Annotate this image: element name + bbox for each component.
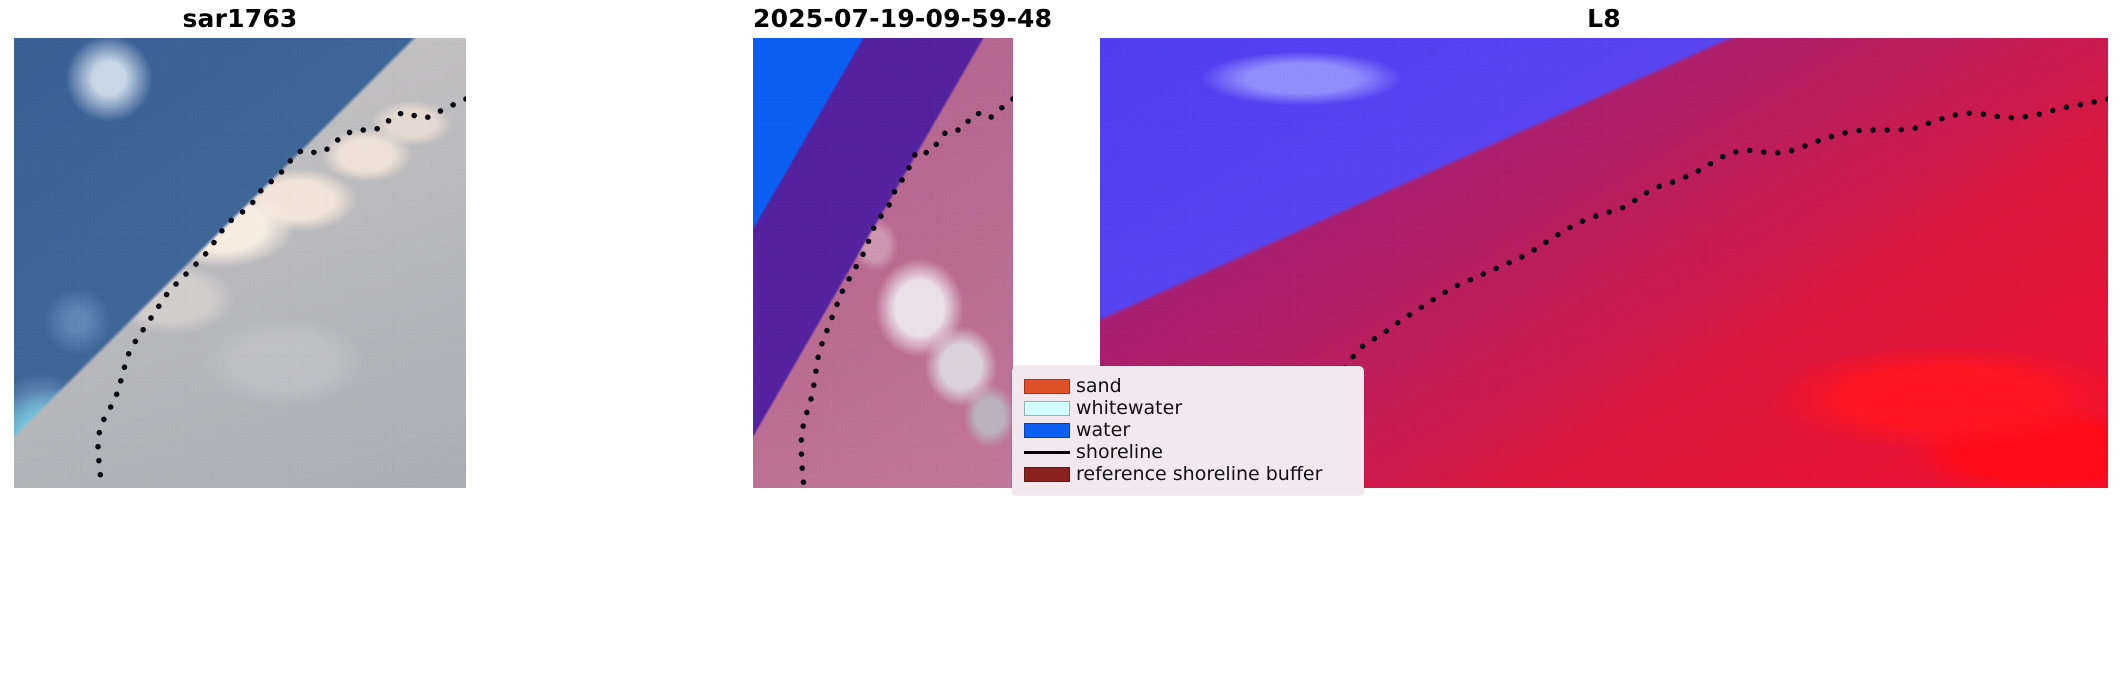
shoreline-line-icon	[1024, 451, 1070, 454]
panel-1-title: sar1763	[14, 4, 466, 34]
whitewater-swatch-icon	[1024, 401, 1070, 416]
legend-label-shoreline: shoreline	[1076, 441, 1163, 463]
water-swatch-icon	[1024, 423, 1070, 438]
legend-item-whitewater: whitewater	[1024, 397, 1354, 419]
legend-swatch-wrap-reference-buffer	[1024, 467, 1076, 482]
reference-buffer-swatch-icon	[1024, 467, 1070, 482]
figure-canvas: sar1763 2025-07-19-09-59-48 L8	[0, 0, 2122, 673]
legend-swatch-wrap-water	[1024, 423, 1076, 438]
legend-label-whitewater: whitewater	[1076, 397, 1182, 419]
legend-label-sand: sand	[1076, 375, 1122, 397]
panel-1-land-layer	[14, 38, 466, 488]
legend-item-water: water	[1024, 419, 1354, 441]
panel-2-bright-sand	[753, 38, 1013, 488]
legend-swatch-wrap-sand	[1024, 379, 1076, 394]
panel-1-axes	[14, 38, 466, 488]
panel-3-title: L8	[1100, 4, 2108, 34]
panel-2-axes	[753, 38, 1013, 488]
sand-swatch-icon	[1024, 379, 1070, 394]
legend-item-shoreline: shoreline	[1024, 441, 1354, 463]
legend-box: sand whitewater water shoreline referenc	[1012, 366, 1364, 495]
legend-item-sand: sand	[1024, 375, 1354, 397]
panel-l8: L8	[1100, 0, 2108, 673]
panel-sar1763: sar1763	[14, 0, 466, 673]
legend-label-reference-buffer: reference shoreline buffer	[1076, 463, 1322, 485]
legend-item-reference-buffer: reference shoreline buffer	[1024, 463, 1354, 485]
panel-2-axes-holder	[753, 0, 1013, 673]
legend-label-water: water	[1076, 419, 1130, 441]
legend-swatch-wrap-whitewater	[1024, 401, 1076, 416]
legend-swatch-wrap-shoreline	[1024, 451, 1076, 454]
